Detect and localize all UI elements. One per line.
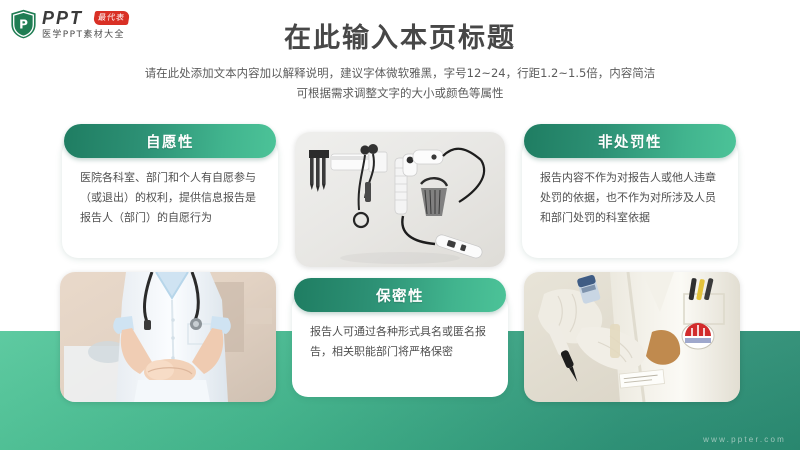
card-confidential-title: 保密性 [294,278,506,312]
photo-nurse [60,272,276,402]
card-voluntary-title: 自愿性 [64,124,276,158]
page-subtitle: 请在此处添加文本内容加以解释说明，建议字体微软雅黑，字号12~24，行距1.2~… [100,63,700,103]
photo-lab-technician [524,272,740,402]
card-nonpunitive-title: 非处罚性 [524,124,736,158]
presentation-slide: www.ppter.com P PPT 最代表 医学PPT素材大全 在此输入本页… [0,0,800,450]
photo-medical-instruments [295,132,505,267]
subtitle-line-1: 请在此处添加文本内容加以解释说明，建议字体微软雅黑，字号12~24，行距1.2~… [100,63,700,83]
watermark-text: www.ppter.com [703,435,786,444]
page-title: 在此输入本页标题 [0,16,800,55]
subtitle-line-2: 可根据需求调整文字的大小或颜色等属性 [100,83,700,103]
